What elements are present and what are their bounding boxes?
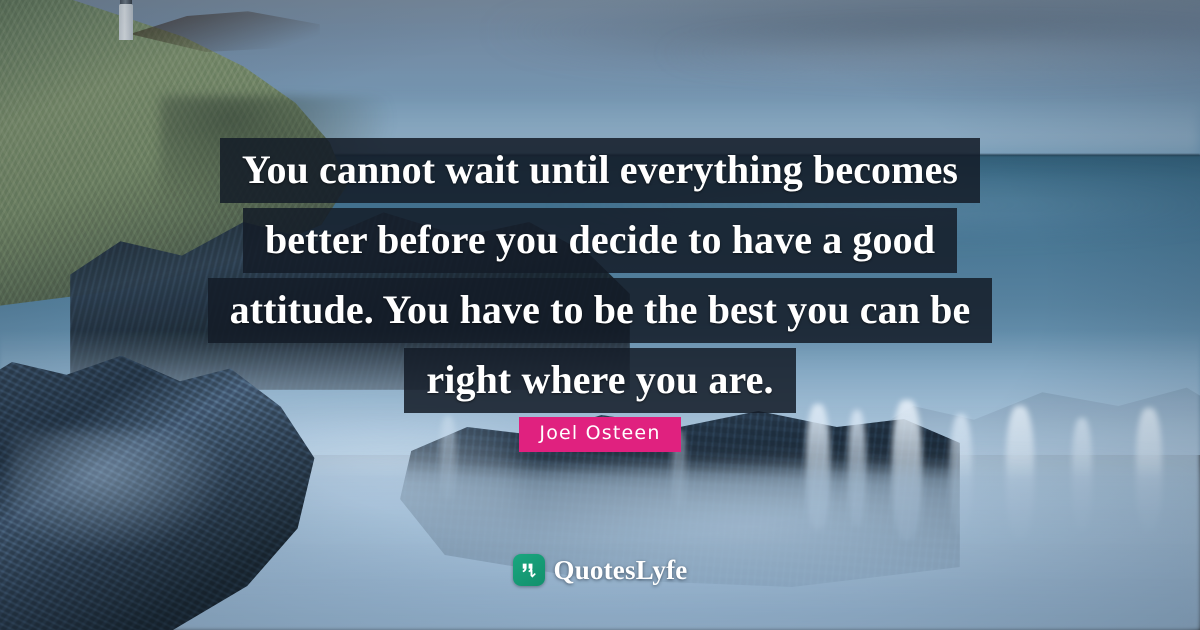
quote-mark-icon [513, 554, 545, 586]
brand-name: QuotesLyfe [554, 555, 688, 586]
quote-line: You cannot wait until everything becomes [220, 138, 980, 203]
author-name-badge: Joel Osteen [519, 417, 680, 452]
card-content: You cannot wait until everything becomes… [0, 0, 1200, 630]
quote-line: attitude. You have to be the best you ca… [208, 278, 993, 343]
author-attribution: Joel Osteen [0, 417, 1200, 452]
quote-card: You cannot wait until everything becomes… [0, 0, 1200, 630]
quote-line: better before you decide to have a good [243, 208, 957, 273]
brand-watermark[interactable]: QuotesLyfe [0, 554, 1200, 586]
quote-text-block: You cannot wait until everything becomes… [0, 138, 1200, 413]
quote-line: right where you are. [404, 348, 795, 413]
